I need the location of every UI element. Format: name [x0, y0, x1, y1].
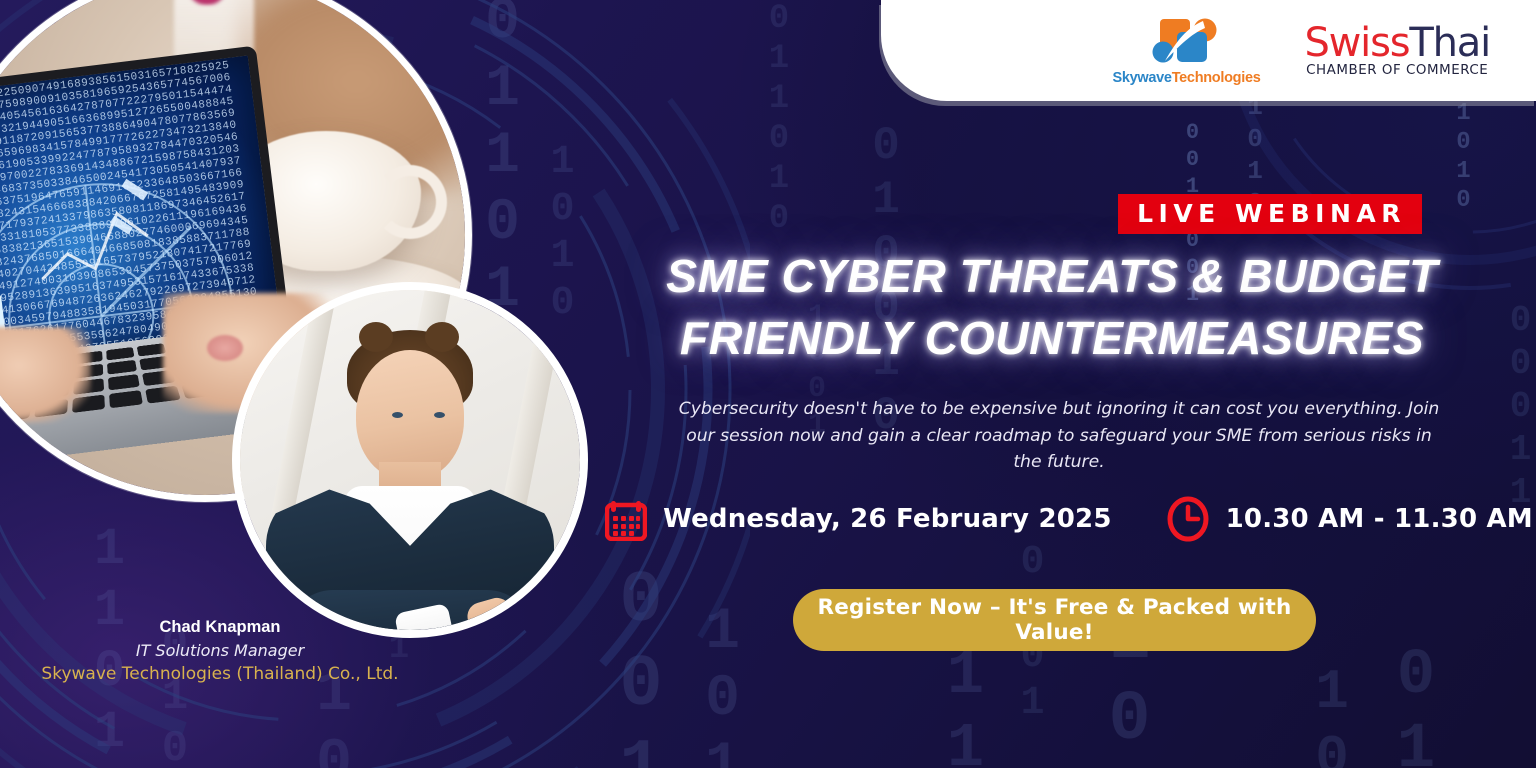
speaker-organization: Skywave Technologies (Thailand) Co., Ltd… [40, 662, 400, 688]
speaker-portrait-photo [232, 282, 588, 638]
webinar-banner: 0110100110100011010110101101010010100101… [0, 0, 1536, 768]
speaker-role: IT Solutions Manager [40, 639, 400, 662]
event-meta-row: Wednesday, 26 February 2025 10.30 AM - 1… [682, 496, 1456, 542]
speaker-name: Chad Knapman [40, 616, 400, 639]
title-line-1: SME CYBER THREATS & BUDGET [666, 250, 1438, 302]
register-now-button[interactable]: Register Now – It's Free & Packed with V… [793, 589, 1316, 651]
calendar-icon [605, 497, 647, 541]
event-time-text: 10.30 AM - 11.30 AM [1226, 504, 1533, 534]
live-webinar-badge: LIVE WEBINAR [1118, 194, 1422, 234]
speaker-caption: Chad Knapman IT Solutions Manager Skywav… [40, 616, 400, 688]
title-line-2: FRIENDLY COUNTERMEASURES [660, 308, 1444, 370]
hand-finger [0, 327, 91, 423]
page-title: SME CYBER THREATS & BUDGET FRIENDLY COUN… [660, 246, 1444, 370]
keyboard-key [106, 347, 134, 360]
event-date-text: Wednesday, 26 February 2025 [663, 504, 1111, 534]
keyboard-key [107, 360, 137, 375]
keyboard-key [109, 390, 143, 408]
speaker-eye-right [434, 412, 445, 418]
subtitle-description: Cybersecurity doesn't have to be expensi… [678, 396, 1440, 476]
event-time-item: 10.30 AM - 11.30 AM [1166, 496, 1533, 542]
event-date-item: Wednesday, 26 February 2025 [605, 497, 1111, 541]
speaker-eye-left [392, 412, 403, 418]
flower [184, 0, 230, 5]
speaker-face [356, 350, 464, 480]
clock-icon [1166, 496, 1210, 542]
keyboard-key [108, 374, 140, 390]
fingernail [207, 335, 243, 361]
main-content: LIVE WEBINAR SME CYBER THREATS & BUDGET … [660, 0, 1536, 768]
